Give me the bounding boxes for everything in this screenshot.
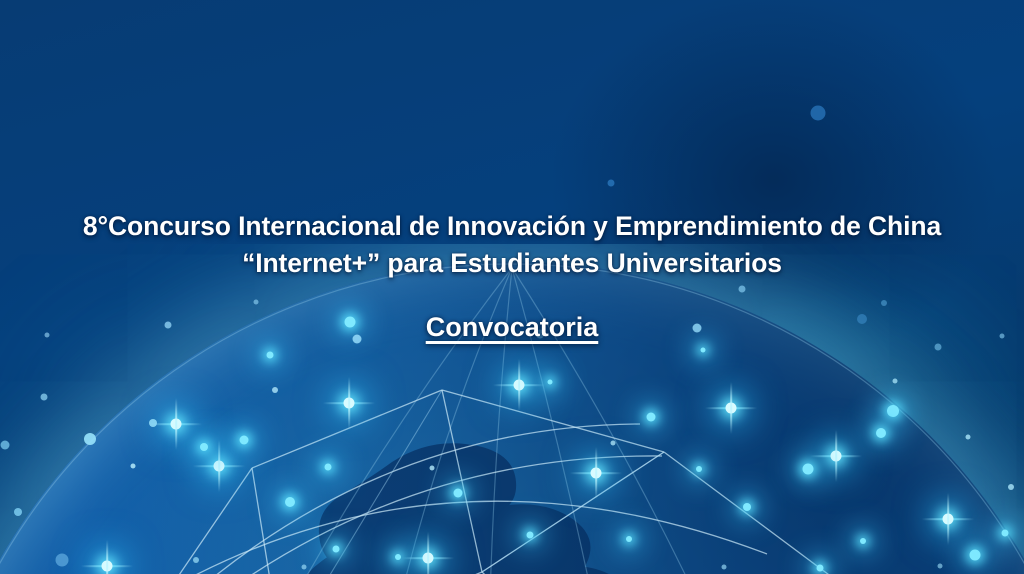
- particle: [254, 300, 259, 305]
- network-node: [647, 413, 656, 422]
- particle: [272, 387, 278, 393]
- network-node: [333, 546, 340, 553]
- particle: [302, 565, 307, 570]
- particle: [1008, 484, 1014, 490]
- particle: [1, 441, 10, 450]
- network-node: [887, 405, 899, 417]
- network-node: [395, 554, 401, 560]
- particle: [893, 379, 898, 384]
- network-node: [267, 352, 274, 359]
- particle: [430, 466, 435, 471]
- particle: [56, 554, 69, 567]
- globe-sphere: [0, 262, 1024, 574]
- particle: [611, 441, 616, 446]
- slide-title: 8°Concurso Internacional de Innovación y…: [0, 208, 1024, 282]
- network-node: [454, 489, 463, 498]
- particle: [722, 565, 727, 570]
- particle: [14, 508, 22, 516]
- particle: [811, 106, 826, 121]
- network-node: [240, 436, 249, 445]
- slide-canvas: 8°Concurso Internacional de Innovación y…: [0, 0, 1024, 574]
- network-node: [970, 550, 981, 561]
- particle: [608, 180, 615, 187]
- particle: [739, 286, 746, 293]
- network-node: [548, 380, 553, 385]
- network-node: [527, 532, 534, 539]
- particle: [966, 435, 971, 440]
- network-node: [803, 464, 814, 475]
- particle: [41, 394, 48, 401]
- subtitle-text: Convocatoria: [426, 312, 599, 343]
- title-line-2: “Internet+” para Estudiantes Universitar…: [0, 245, 1024, 282]
- particle: [193, 557, 199, 563]
- network-node: [701, 348, 706, 353]
- network-node: [743, 503, 751, 511]
- particle: [131, 464, 136, 469]
- network-node: [696, 466, 702, 472]
- network-node: [1002, 530, 1009, 537]
- globe-network-mesh: [0, 262, 1024, 574]
- network-node: [626, 536, 632, 542]
- network-node: [325, 464, 332, 471]
- network-node: [200, 443, 208, 451]
- network-node: [817, 565, 824, 572]
- particle: [149, 419, 157, 427]
- network-node: [285, 497, 295, 507]
- slide-subtitle: Convocatoria: [0, 312, 1024, 343]
- particle: [938, 564, 943, 569]
- particle: [881, 300, 887, 306]
- title-line-1: 8°Concurso Internacional de Innovación y…: [0, 208, 1024, 245]
- network-node: [876, 428, 886, 438]
- particle: [935, 344, 942, 351]
- network-node: [860, 538, 866, 544]
- particle: [84, 433, 96, 445]
- globe-illustration: [0, 244, 1024, 574]
